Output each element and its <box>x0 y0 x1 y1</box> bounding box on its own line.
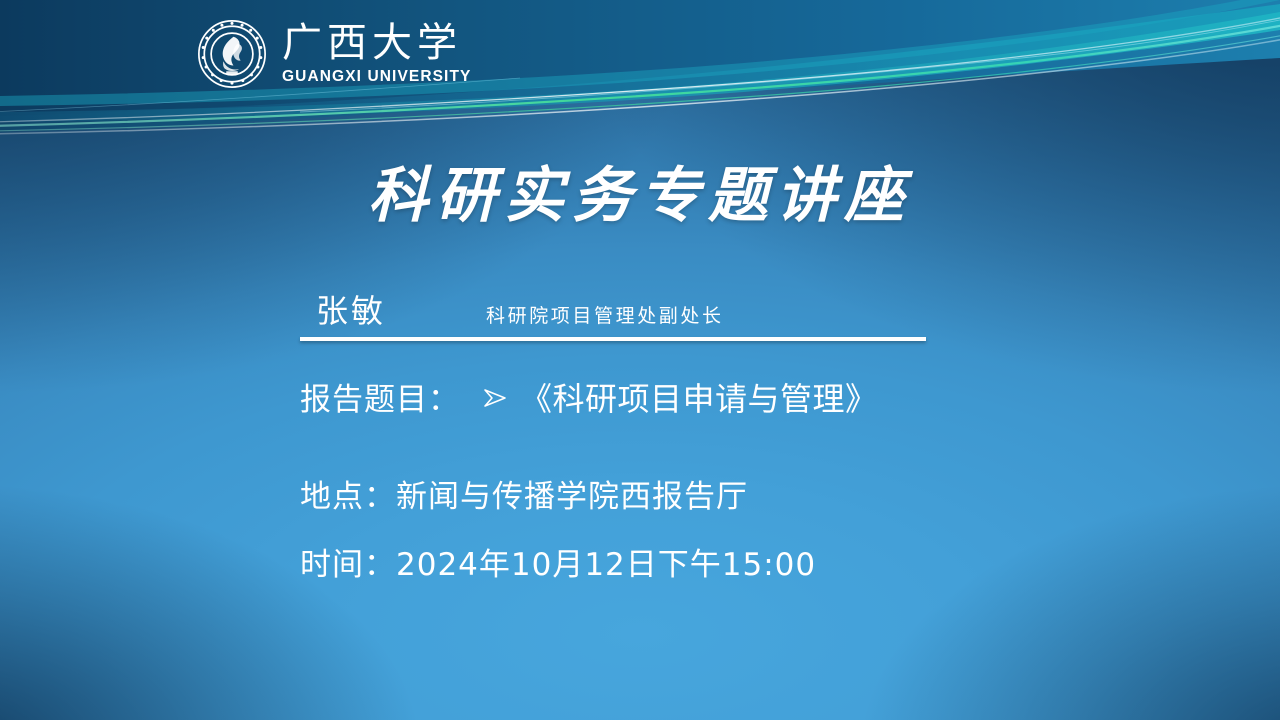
divider-rule <box>300 337 926 341</box>
logo-wordmark: 广西大学 GUANGXI UNIVERSITY <box>282 22 471 86</box>
topic-line: 报告题目： 《科研项目申请与管理》 <box>300 374 878 420</box>
lecture-title: 科研实务专题讲座 <box>0 147 1280 234</box>
arrowhead-bullet-glyph <box>482 388 508 408</box>
speaker-block: 张敏 科研院项目管理处副处长 <box>300 286 930 332</box>
header-banner <box>0 0 1280 135</box>
logo-name-chinese: 广西大学 <box>282 22 471 65</box>
place-line: 地点：新闻与传播学院西报告厅 <box>300 471 748 516</box>
speaker-name: 张敏 <box>316 286 386 332</box>
university-seal-icon <box>196 18 268 90</box>
presentation-slide: 广西大学 GUANGXI UNIVERSITY 科研实务专题讲座 张敏 科研院项… <box>0 0 1280 720</box>
logo-name-english: GUANGXI UNIVERSITY <box>282 68 471 86</box>
banner-swoosh-graphic <box>0 0 1280 135</box>
arrowhead-bullet-icon <box>482 387 508 413</box>
topic-label: 报告题目： <box>300 374 460 419</box>
university-logo: 广西大学 GUANGXI UNIVERSITY <box>196 18 471 90</box>
topic-value: 《科研项目申请与管理》 <box>520 374 878 420</box>
speaker-position: 科研院项目管理处副处长 <box>486 301 724 328</box>
time-line: 时间：2024年10月12日下午15:00 <box>300 539 816 584</box>
